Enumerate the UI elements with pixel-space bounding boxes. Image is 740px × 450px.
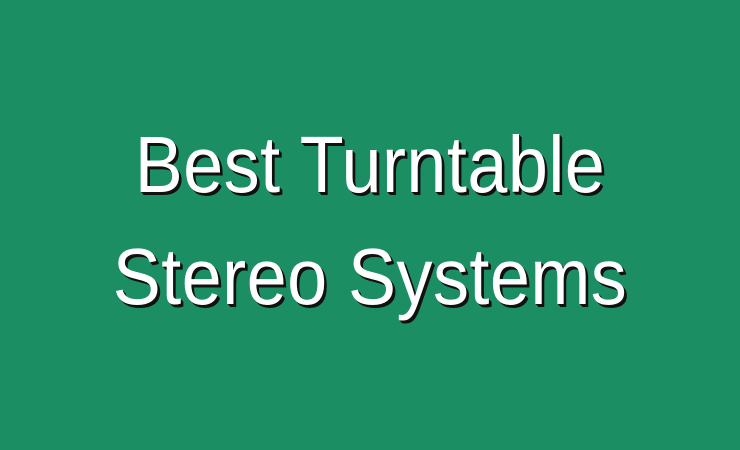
headline-line-2: Stereo Systems bbox=[51, 221, 688, 333]
headline-block: Best Turntable Stereo Systems bbox=[0, 109, 740, 333]
featured-image-banner: Best Turntable Stereo Systems bbox=[0, 0, 740, 450]
headline-line-1: Best Turntable bbox=[51, 109, 688, 221]
